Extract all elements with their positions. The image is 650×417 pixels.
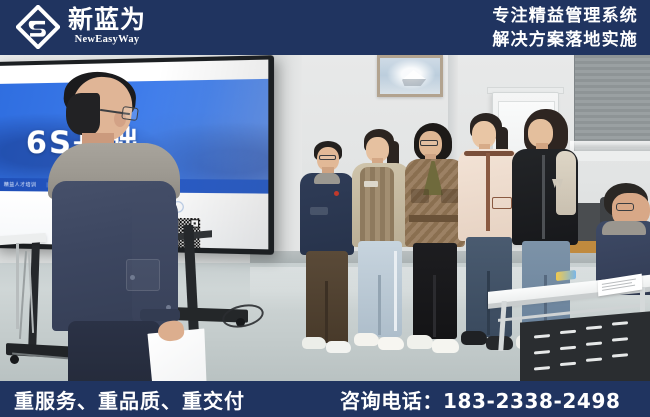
vest-label	[364, 181, 378, 187]
header-bar: 新蓝为 NewEasyWay 专注精益管理系统 解决方案落地实施	[0, 0, 650, 55]
jacket-placket	[486, 153, 490, 231]
promotional-banner: 新蓝为 NewEasyWay 专注精益管理系统 解决方案落地实施	[0, 0, 650, 417]
jacket-collar	[602, 221, 646, 235]
sneaker-right	[326, 341, 351, 353]
sneaker-left	[302, 337, 326, 349]
glasses-icon	[319, 155, 336, 160]
sneaker-left	[354, 333, 379, 346]
trainee-1	[300, 141, 354, 381]
slogan-line-1: 专注精益管理系统	[492, 4, 638, 28]
glasses-icon	[420, 140, 438, 146]
trainee-4	[458, 113, 520, 381]
jacket-pocket	[492, 197, 512, 209]
slogan-line-2: 解决方案落地实施	[492, 28, 638, 52]
trousers	[68, 321, 160, 381]
wall-picture-frame	[377, 55, 443, 97]
brand-logo[interactable]: 新蓝为 NewEasyWay	[16, 5, 146, 49]
diamond-swirl-logo-icon	[16, 5, 60, 49]
vest-plaid	[360, 167, 394, 243]
trouser-gap	[325, 281, 328, 343]
coat-pocket-right	[441, 189, 459, 203]
pants-gap	[378, 275, 381, 335]
sneaker-right	[432, 339, 459, 353]
footer-phone[interactable]: 咨询电话：183-2338-2498	[340, 385, 620, 414]
hair-side	[66, 93, 100, 135]
scene-photo: 6S基础 精益人才培训 | 精益咨询	[0, 55, 650, 381]
coat-belt	[409, 215, 461, 222]
glasses-icon	[616, 203, 634, 211]
side-table-leg	[16, 243, 19, 329]
slide-tag-1: 精益人才培训	[4, 181, 36, 188]
glasses-icon	[121, 106, 139, 121]
coat-pocket-left	[411, 189, 429, 203]
trainee-2	[352, 129, 410, 381]
pants-stripe	[394, 251, 397, 331]
header-slogan: 专注精益管理系统 解决方案落地实施	[492, 4, 638, 52]
jacket-collar	[314, 173, 340, 184]
window-sill	[570, 151, 650, 161]
trouser-gap	[433, 275, 436, 337]
tv-stand-caster	[10, 355, 19, 364]
sneaker-left	[407, 335, 433, 349]
window-blinds	[574, 55, 650, 153]
jacket-button	[130, 275, 135, 280]
sneaker-right	[378, 337, 404, 350]
footer-service-slogan: 重服务、重品质、重交付	[14, 385, 245, 414]
presenter	[48, 77, 180, 381]
jacket-cuff	[140, 309, 180, 321]
jacket-badge	[334, 191, 339, 196]
brand-name-cn: 新蓝为	[68, 7, 146, 33]
jacket-pocket	[310, 207, 328, 215]
brand-name-en: NewEasyWay	[75, 34, 140, 47]
desk-modesty-panel	[520, 311, 650, 381]
footer-bar: 重服务、重品质、重交付 咨询电话：183-2338-2498	[0, 381, 650, 417]
shoe-left	[461, 331, 487, 345]
trainee-3	[405, 123, 465, 381]
jacket-zipper	[542, 155, 545, 239]
